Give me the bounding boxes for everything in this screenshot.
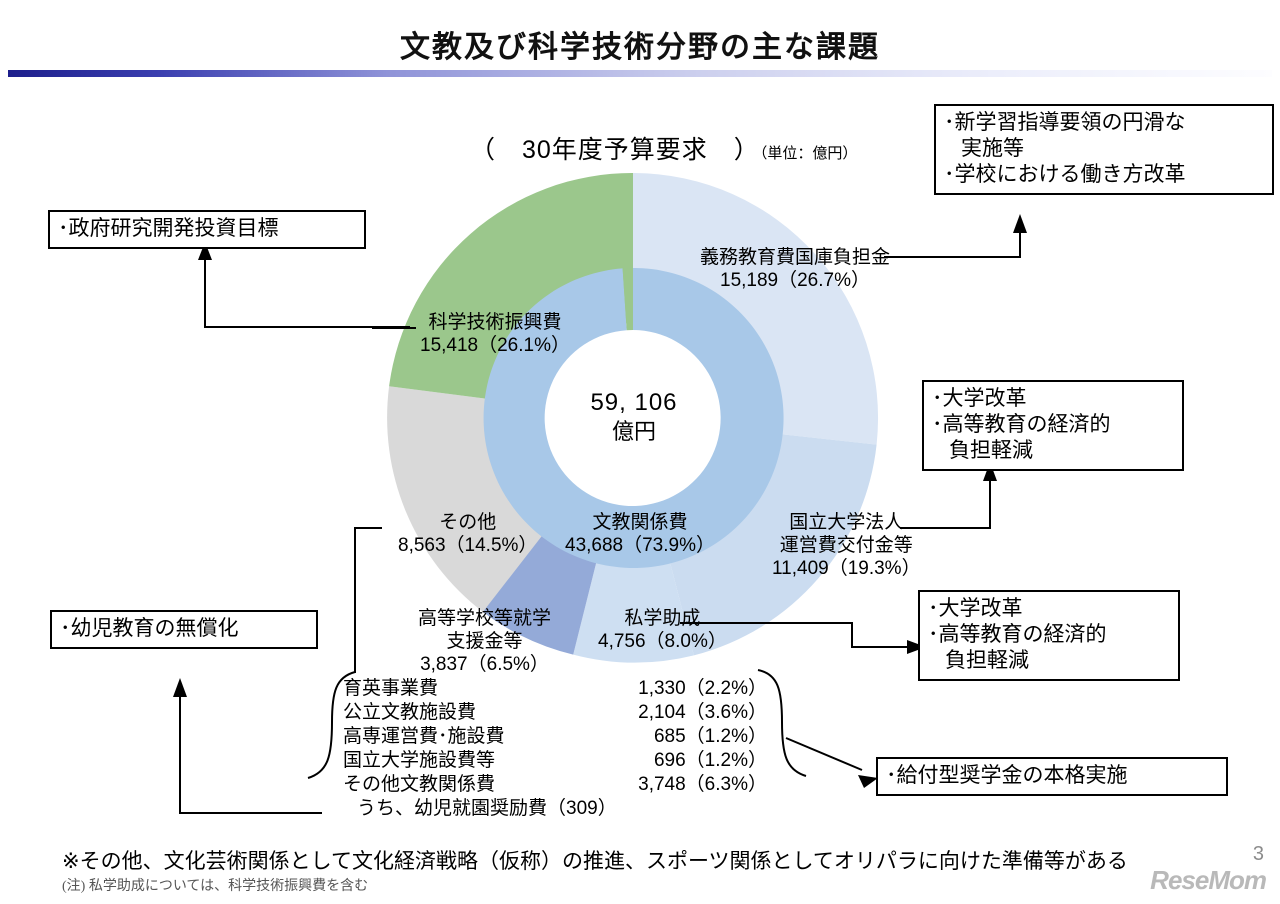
- leader-kagaku-path: [120, 240, 420, 340]
- leader-sonota-stub: [354, 527, 382, 529]
- slice-label-kagaku-value: 15,418（26.1%）: [420, 334, 570, 357]
- slice-label-sonota-name: その他: [398, 511, 537, 534]
- breakdown-value: 696（1.2%）: [654, 745, 767, 772]
- callout-left-lower: ･幼児教育の無償化: [50, 610, 318, 649]
- leader-gimu-stub: [884, 256, 936, 258]
- callout-top-right-line2: 実施等: [944, 136, 1264, 162]
- callout-right-lower: ･大学改革 ･高等教育の経済的 負担軽減: [918, 590, 1180, 681]
- breakdown-subnote: うち、幼児就園奨励費（309）: [357, 793, 617, 820]
- slice-label-kokuritsu-name2: 運営費交付金等: [772, 534, 921, 557]
- slice-label-kokuritsu-value: 11,409（19.3%）: [772, 557, 921, 580]
- chart-subtitle: （ 30年度予算要求 ）（単位：億円）: [470, 130, 857, 166]
- slice-label-gimu: 義務教育費国庫負担金 15,189（26.7%）: [700, 246, 890, 292]
- breakdown-list: 育英事業費 1,330（2.2%） 公立文教施設費 2,104（3.6%） 高専…: [335, 673, 775, 828]
- callout-left-upper-line1: ･政府研究開発投資目標: [58, 216, 356, 242]
- page-title: 文教及び科学技術分野の主な課題: [0, 22, 1280, 66]
- leader-shigaku-path: [680, 605, 930, 665]
- slice-label-koukou: 高等学校等就学 支援金等 3,837（6.5%）: [418, 607, 551, 677]
- leader-youji-path: [150, 660, 360, 845]
- breakdown-name: 高専運営費･施設費: [343, 721, 505, 748]
- callout-left-upper: ･政府研究開発投資目標: [48, 210, 366, 249]
- callout-right-lower-line1: ･大学改革: [928, 596, 1170, 622]
- slice-label-kagaku: 科学技術振興費 15,418（26.1%）: [420, 311, 570, 357]
- callout-top-right-line3: ･学校における働き方改革: [944, 162, 1264, 188]
- footnote-main: ※その他、文化芸術関係として文化経済戦略（仮称）の推進、スポーツ関係としてオリパ…: [62, 845, 1128, 875]
- callout-right-upper: ･大学改革 ･高等教育の経済的 負担軽減: [922, 380, 1184, 471]
- chart-subtitle-main: （ 30年度予算要求 ）: [470, 136, 760, 164]
- slice-label-kokuritsu: 国立大学法人 運営費交付金等 11,409（19.3%）: [772, 511, 921, 581]
- callout-left-lower-line1: ･幼児教育の無償化: [60, 616, 308, 642]
- slice-label-kokuritsu-name1: 国立大学法人: [772, 511, 921, 534]
- total-unit: 億円: [556, 418, 712, 446]
- slice-label-sonota: その他 8,563（14.5%）: [398, 511, 537, 557]
- breakdown-row: 高専運営費･施設費 685（1.2%）: [335, 721, 775, 745]
- callout-right-upper-line2: ･高等教育の経済的: [932, 412, 1174, 438]
- footnote-note: (注) 私学助成については、科学技術振興費を含む: [62, 875, 368, 895]
- breakdown-row: その他文教関係費 3,748（6.3%）: [335, 769, 775, 793]
- total-amount: 59, 106: [556, 388, 712, 418]
- breakdown-row: 育英事業費 1,330（2.2%）: [335, 673, 775, 697]
- chart-subtitle-unit: （単位：億円）: [760, 145, 858, 162]
- slice-label-gimu-value: 15,189（26.7%）: [700, 269, 890, 292]
- slice-label-koukou-name1: 高等学校等就学: [418, 607, 551, 630]
- breakdown-name: 育英事業費: [343, 673, 438, 700]
- slice-label-koukou-name2: 支援金等: [418, 630, 551, 653]
- slice-label-kagaku-name: 科学技術振興費: [420, 311, 570, 334]
- callout-top-right: ･新学習指導要領の円滑な 実施等 ･学校における働き方改革: [934, 104, 1274, 195]
- title-underline-rule: [8, 70, 1272, 77]
- breakdown-subnote-row: うち、幼児就園奨励費（309）: [335, 793, 775, 817]
- callout-right-upper-line1: ･大学改革: [932, 386, 1174, 412]
- callout-bottom-right: ･給付型奨学金の本格実施: [876, 757, 1228, 796]
- page-number: 3: [1253, 843, 1264, 866]
- breakdown-name: 国立大学施設費等: [343, 745, 495, 772]
- slice-label-bunkyo: 文教関係費 43,688（73.9%）: [565, 511, 715, 557]
- resemom-watermark: ReseMom: [1150, 865, 1266, 896]
- breakdown-name: その他文教関係費: [343, 769, 495, 796]
- callout-right-lower-line2: ･高等教育の経済的: [928, 622, 1170, 648]
- callout-right-upper-line3: 負担軽減: [932, 438, 1174, 464]
- breakdown-value: 685（1.2%）: [654, 721, 767, 748]
- callout-bottom-right-line1: ･給付型奨学金の本格実施: [886, 763, 1218, 789]
- slice-label-bunkyo-value: 43,688（73.9%）: [565, 534, 715, 557]
- slice-label-sonota-value: 8,563（14.5%）: [398, 534, 537, 557]
- donut-center-label: 59, 106 億円: [556, 388, 712, 446]
- slice-label-bunkyo-name: 文教関係費: [565, 511, 715, 534]
- leader-kokuritsu-stub: [900, 527, 942, 529]
- title-bar: 文教及び科学技術分野の主な課題: [0, 0, 1280, 78]
- leader-sonota-vert: [354, 527, 356, 673]
- slice-label-gimu-name: 義務教育費国庫負担金: [700, 246, 890, 269]
- callout-right-lower-line3: 負担軽減: [928, 648, 1170, 674]
- breakdown-row: 国立大学施設費等 696（1.2%）: [335, 745, 775, 769]
- breakdown-value: 3,748（6.3%）: [638, 769, 767, 796]
- breakdown-value: 1,330（2.2%）: [638, 673, 767, 700]
- breakdown-row: 公立文教施設費 2,104（3.6%）: [335, 697, 775, 721]
- breakdown-value: 2,104（3.6%）: [638, 697, 767, 724]
- leader-gimu-path: [920, 200, 1120, 270]
- callout-top-right-line1: ･新学習指導要領の円滑な: [944, 110, 1264, 136]
- breakdown-name: 公立文教施設費: [343, 697, 476, 724]
